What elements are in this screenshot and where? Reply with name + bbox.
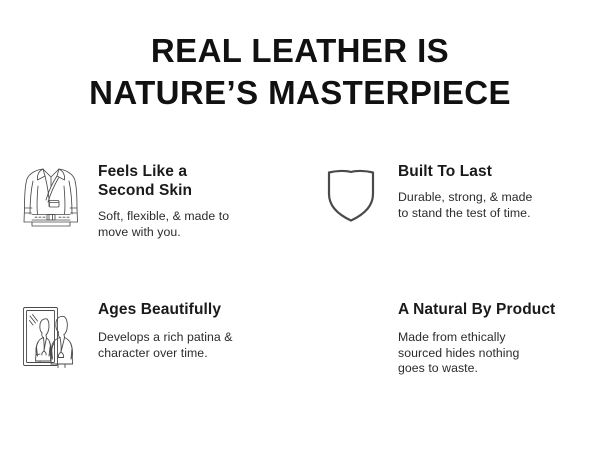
- feature-text-block: Feels Like a Second Skin Soft, flexible,…: [98, 160, 288, 240]
- feature-description: Soft, flexible, & made to move with you.: [98, 209, 288, 240]
- infographic-page: REAL LEATHER IS NATURE’S MASTERPIECE: [0, 0, 600, 450]
- feature-item-ages-beautifully: Ages Beautifully Develops a rich patina …: [0, 300, 300, 440]
- feature-text-block: Ages Beautifully Develops a rich patina …: [98, 300, 288, 361]
- feature-description: Made from ethically sourced hides nothin…: [398, 330, 588, 377]
- page-title-line-1: REAL LEATHER IS: [0, 30, 600, 72]
- page-title-line-2: NATURE’S MASTERPIECE: [0, 72, 600, 114]
- feature-title: Feels Like a Second Skin: [98, 162, 288, 200]
- feature-text-block: Built To Last Durable, strong, & made to…: [398, 160, 588, 221]
- feature-item-a-natural-by-product: A Natural By Product Made from ethically…: [300, 300, 600, 440]
- feature-grid: Feels Like a Second Skin Soft, flexible,…: [0, 160, 600, 440]
- feature-title: Ages Beautifully: [98, 300, 288, 319]
- feature-description: Durable, strong, & made to stand the tes…: [398, 190, 588, 221]
- page-title: REAL LEATHER IS NATURE’S MASTERPIECE: [0, 30, 600, 114]
- shield-icon: [318, 164, 384, 236]
- feature-item-feels-like-a-second-skin: Feels Like a Second Skin Soft, flexible,…: [0, 160, 300, 300]
- feature-description: Develops a rich patina & character over …: [98, 330, 288, 361]
- leather-jacket-icon: [18, 164, 84, 236]
- mirror-reflection-icon: [18, 304, 84, 376]
- feature-title: A Natural By Product: [398, 300, 588, 319]
- feature-title: Built To Last: [398, 162, 588, 181]
- feature-text-block: A Natural By Product Made from ethically…: [398, 300, 588, 377]
- feature-item-built-to-last: Built To Last Durable, strong, & made to…: [300, 160, 600, 300]
- feature-icon-placeholder: [318, 304, 384, 376]
